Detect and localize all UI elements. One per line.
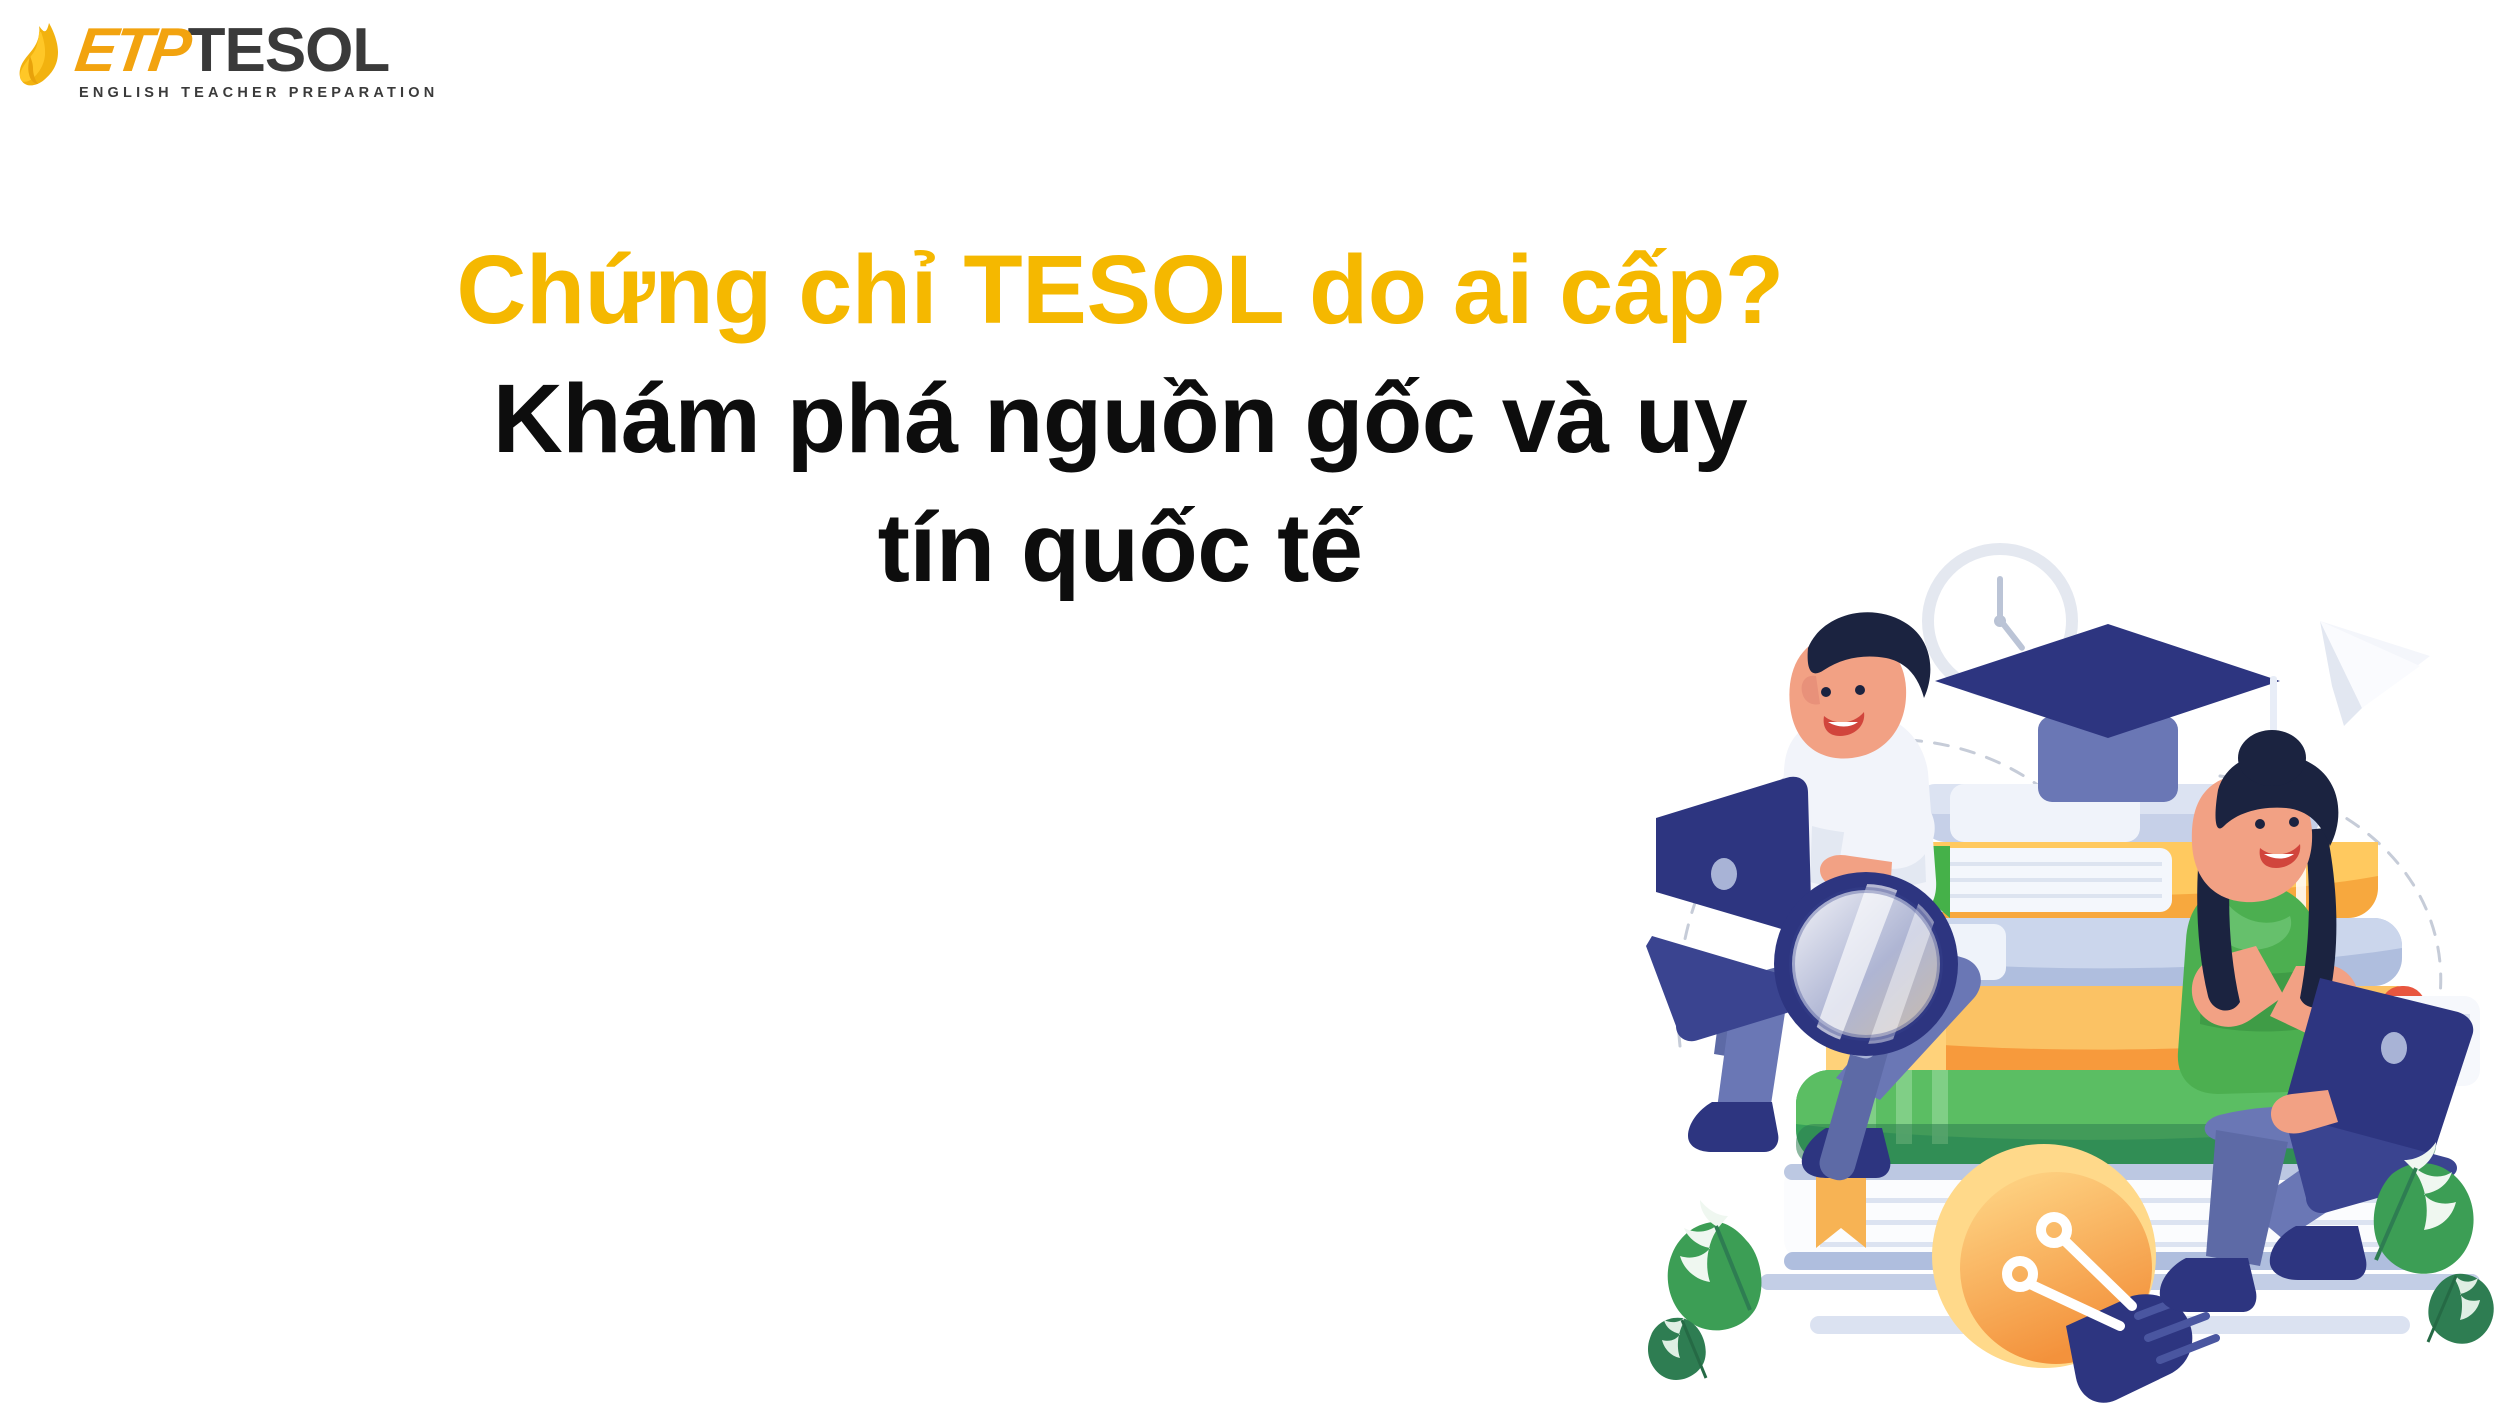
monstera-leaf-left-icon — [1648, 1200, 1761, 1380]
banner-root: ETP TESOL ENGLISH TEACHER PREPARATION Ch… — [0, 0, 2500, 1406]
woman-eye-left-icon — [2255, 819, 2265, 829]
hair-bun-icon — [2238, 730, 2306, 786]
hero-illustration — [1620, 526, 2500, 1406]
brand-name-tesol: TESOL — [188, 22, 390, 81]
brand-tagline: ENGLISH TEACHER PREPARATION — [79, 85, 438, 101]
laptop-man-icon — [1656, 777, 1812, 938]
headline-line-3: tín quốc tế — [180, 483, 2060, 612]
brand-wordmark: ETP TESOL — [76, 22, 438, 81]
brand-logo[interactable]: ETP TESOL ENGLISH TEACHER PREPARATION — [18, 22, 438, 101]
shoe-woman-left-icon — [2160, 1258, 2257, 1312]
eye-left-icon — [1821, 687, 1831, 697]
paper-plane-icon — [2320, 621, 2430, 726]
brand-name-etp: ETP — [72, 22, 192, 81]
eye-right-icon — [1855, 685, 1865, 695]
woman-eye-right-icon — [2289, 817, 2299, 827]
shoe-left-icon — [1688, 1102, 1778, 1152]
page-title: Chứng chỉ TESOL do ai cấp? Khám phá nguồ… — [180, 225, 2060, 612]
headline-line-1: Chứng chỉ TESOL do ai cấp? — [180, 225, 2060, 354]
headline-line-2: Khám phá nguồn gốc và uy — [180, 354, 2060, 483]
flame-icon — [18, 22, 70, 100]
brand-wordblock: ETP TESOL ENGLISH TEACHER PREPARATION — [76, 22, 438, 101]
shoe-woman-right-icon — [2270, 1226, 2367, 1280]
